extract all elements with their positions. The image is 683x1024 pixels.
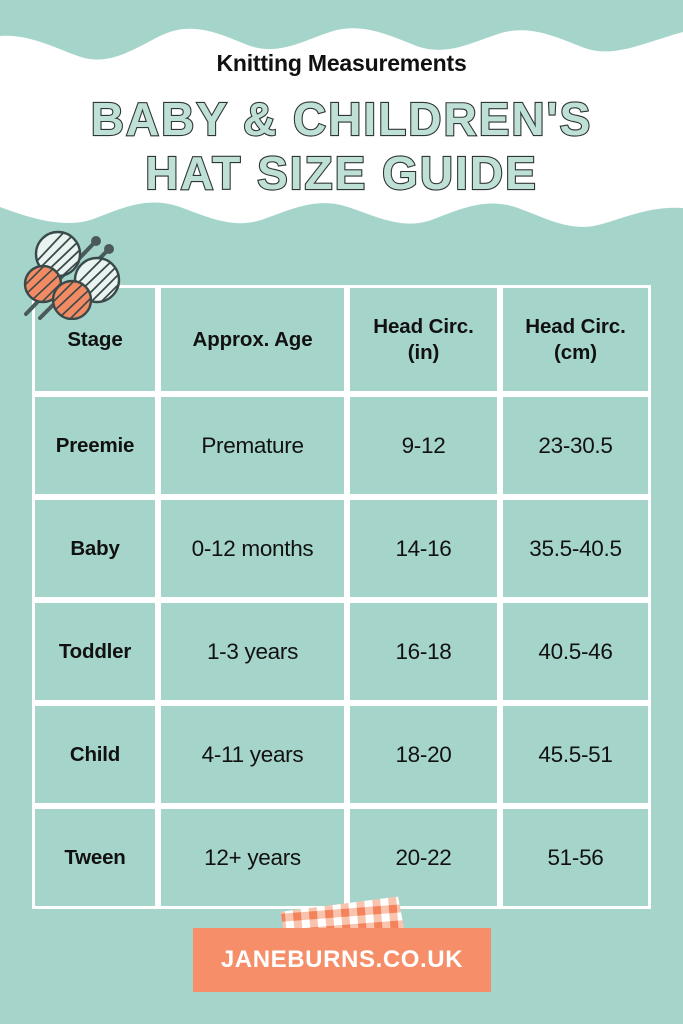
hat-size-table-container: Stage Approx. Age Head Circ. (in) Head C…: [32, 285, 651, 876]
cell-cm: 40.5-46: [500, 600, 651, 703]
table-row: Child 4-11 years 18-20 45.5-51: [32, 703, 651, 806]
yarn-ball-orange-icon: [53, 280, 91, 320]
column-header-head-circ-in-line1: Head Circ.: [373, 315, 473, 338]
cell-stage: Toddler: [32, 600, 158, 703]
cell-stage: Tween: [32, 806, 158, 909]
cell-age: 0-12 months: [158, 497, 347, 600]
cell-age: Premature: [158, 394, 347, 497]
cell-age: 4-11 years: [158, 703, 347, 806]
column-header-head-circ-in: Head Circ. (in): [347, 285, 500, 394]
header-white-shape: [0, 28, 683, 227]
yarn-balls-icon: [12, 228, 134, 320]
table-row: Toddler 1-3 years 16-18 40.5-46: [32, 600, 651, 703]
cell-age: 12+ years: [158, 806, 347, 909]
column-header-head-circ-cm-line1: Head Circ.: [525, 315, 625, 338]
website-badge[interactable]: JANEBURNS.CO.UK: [193, 928, 491, 992]
column-header-head-circ-cm: Head Circ. (cm): [500, 285, 651, 394]
cell-inches: 14-16: [347, 497, 500, 600]
table-row: Tween 12+ years 20-22 51-56: [32, 806, 651, 909]
cell-cm: 23-30.5: [500, 394, 651, 497]
column-header-approx-age-line1: Approx. Age: [192, 328, 312, 351]
cell-cm: 51-56: [500, 806, 651, 909]
column-header-stage-line1: Stage: [67, 328, 122, 351]
table-row: Baby 0-12 months 14-16 35.5-40.5: [32, 497, 651, 600]
needle-tip-icon: [91, 236, 101, 246]
column-header-head-circ-cm-line2: (cm): [554, 341, 597, 364]
cell-age: 1-3 years: [158, 600, 347, 703]
cell-cm: 35.5-40.5: [500, 497, 651, 600]
cell-inches: 9-12: [347, 394, 500, 497]
cell-stage: Child: [32, 703, 158, 806]
poster-root: Knitting Measurements Baby & Children's …: [0, 0, 683, 1024]
cell-inches: 20-22: [347, 806, 500, 909]
cell-stage: Baby: [32, 497, 158, 600]
column-header-head-circ-in-line2: (in): [408, 341, 439, 364]
cell-stage: Preemie: [32, 394, 158, 497]
cell-cm: 45.5-51: [500, 703, 651, 806]
header-wave-band: [0, 0, 683, 240]
needle-tip-icon: [104, 244, 114, 254]
column-header-approx-age: Approx. Age: [158, 285, 347, 394]
hat-size-table: Stage Approx. Age Head Circ. (in) Head C…: [32, 285, 651, 909]
website-url-label: JANEBURNS.CO.UK: [221, 946, 463, 974]
table-row: Preemie Premature 9-12 23-30.5: [32, 394, 651, 497]
cell-inches: 16-18: [347, 600, 500, 703]
cell-inches: 18-20: [347, 703, 500, 806]
footer: JANEBURNS.CO.UK: [0, 900, 683, 1024]
